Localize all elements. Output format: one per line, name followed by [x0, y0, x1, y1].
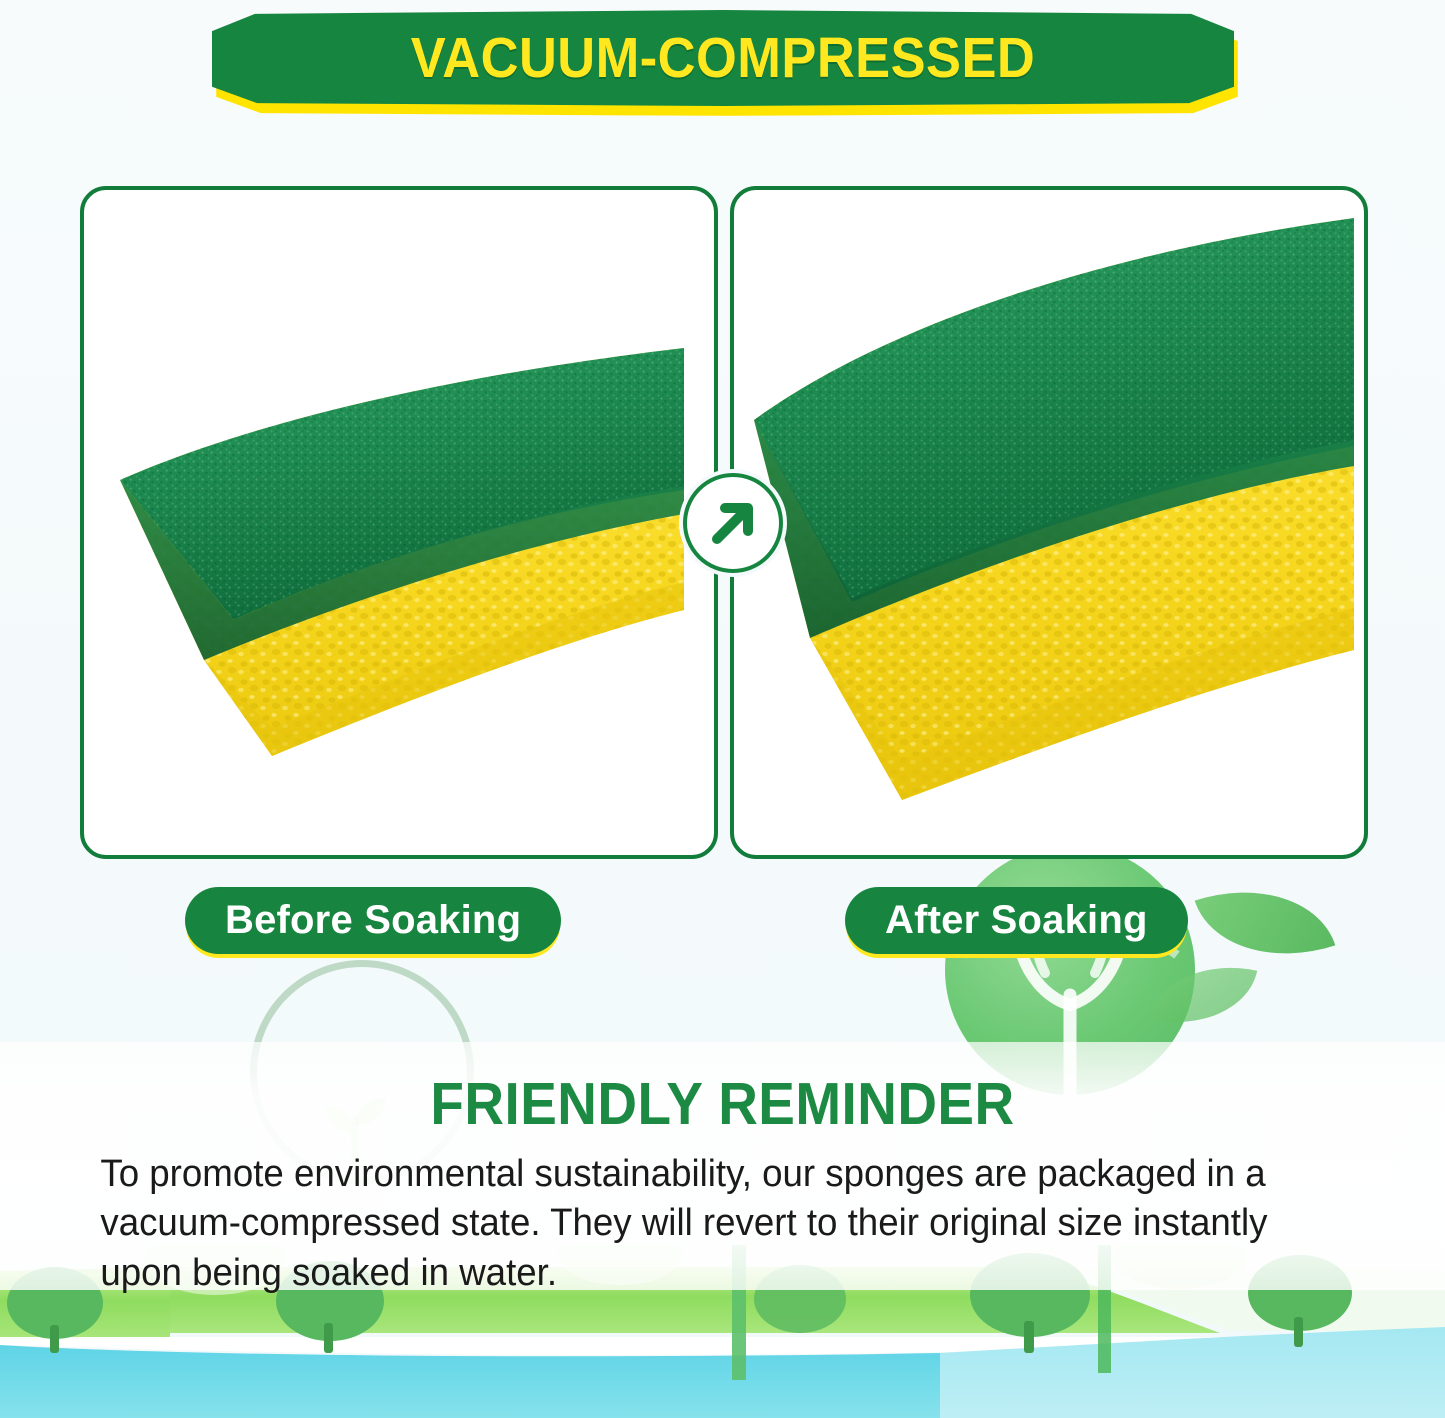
reminder-body: To promote environmental sustainability,… — [0, 1150, 1394, 1298]
sponge-after-image — [734, 190, 1364, 855]
arrow-up-right-icon — [683, 473, 783, 573]
caption-before-soaking: Before Soaking — [185, 887, 561, 954]
infographic-canvas: VACUUM-COMPRESSED — [0, 0, 1445, 1418]
leaf-icon — [1195, 864, 1336, 983]
banner-title: VACUUM-COMPRESSED — [253, 10, 1193, 106]
sponge-before-image — [84, 190, 714, 855]
banner: VACUUM-COMPRESSED — [212, 6, 1238, 118]
reminder-section: FRIENDLY REMINDER To promote environment… — [0, 1070, 1445, 1298]
caption-after-soaking: After Soaking — [845, 887, 1188, 954]
reminder-heading: FRIENDLY REMINDER — [51, 1070, 1395, 1138]
panel-before — [80, 186, 718, 859]
panel-after — [730, 186, 1368, 859]
leaf-icon-secondary — [1149, 951, 1257, 1039]
